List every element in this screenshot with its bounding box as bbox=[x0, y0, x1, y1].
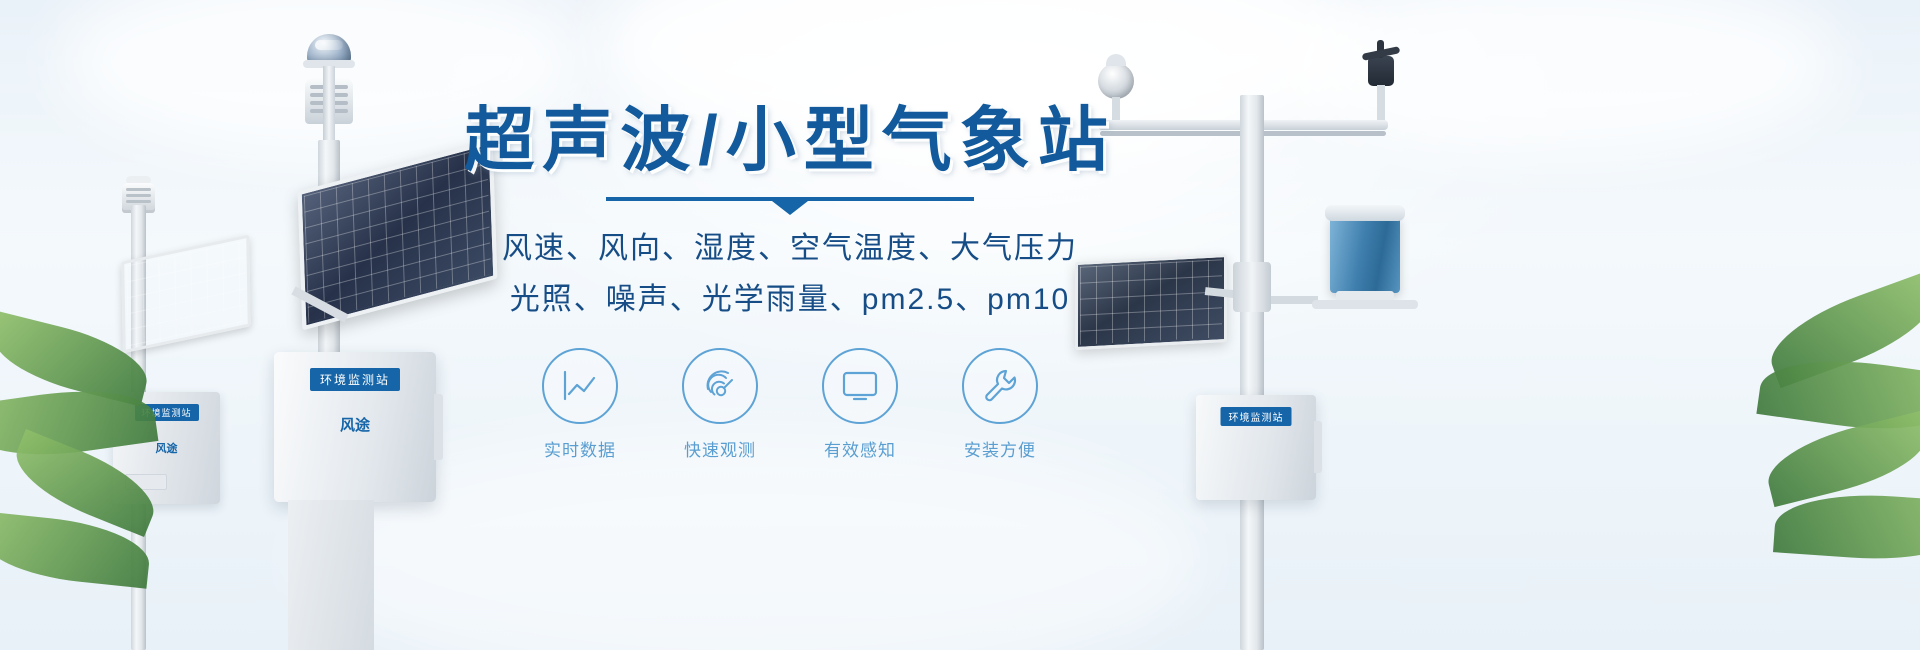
feature-label: 安装方便 bbox=[957, 436, 1043, 461]
feature-item-fast-observation[interactable]: 快速观测 bbox=[677, 348, 763, 461]
wrench-icon bbox=[962, 348, 1038, 424]
title-divider bbox=[606, 197, 974, 201]
radar-signal-icon bbox=[682, 348, 758, 424]
control-cabinet: 环境监测站 bbox=[1196, 395, 1316, 500]
feature-item-easy-installation[interactable]: 安装方便 bbox=[957, 348, 1043, 461]
cabinet-label: 环境监测站 bbox=[1221, 407, 1292, 426]
feature-list: 实时数据 快速观测 bbox=[440, 348, 1140, 461]
banner-title: 超声波/小型气象站 bbox=[440, 100, 1140, 181]
brand-logo: 风途 bbox=[156, 440, 178, 456]
station-base bbox=[288, 500, 374, 650]
pole-joint bbox=[1233, 262, 1271, 312]
feature-label: 有效感知 bbox=[817, 436, 903, 461]
brand-logo: 风途 bbox=[340, 414, 370, 435]
wind-sensor-icon bbox=[1368, 56, 1394, 86]
banner-subtitle: 风速、风向、湿度、空气温度、大气压力 光照、噪声、光学雨量、pm2.5、pm10 bbox=[440, 223, 1140, 326]
feature-item-realtime-data[interactable]: 实时数据 bbox=[537, 348, 623, 461]
feature-item-effective-sensing[interactable]: 有效感知 bbox=[817, 348, 903, 461]
station-pole bbox=[1240, 95, 1264, 650]
cabinet-label: 环境监测站 bbox=[310, 368, 400, 391]
monitor-icon bbox=[822, 348, 898, 424]
ultrasonic-sensor-icon bbox=[1098, 63, 1134, 99]
subtitle-line-1: 风速、风向、湿度、空气温度、大气压力 bbox=[440, 223, 1140, 275]
equipment-shelf bbox=[1312, 300, 1418, 309]
line-chart-icon bbox=[542, 348, 618, 424]
cabinet-door-edge bbox=[1314, 421, 1322, 473]
sensor-stem bbox=[1377, 85, 1385, 123]
feature-label: 实时数据 bbox=[537, 436, 623, 461]
rain-gauge-icon bbox=[1330, 215, 1400, 293]
control-cabinet: 环境监测站 风途 bbox=[274, 352, 436, 502]
product-banner: 环境监测站 风途 环境监测站 风途 bbox=[0, 0, 1920, 650]
feature-label: 快速观测 bbox=[677, 436, 763, 461]
subtitle-line-2: 光照、噪声、光学雨量、pm2.5、pm10 bbox=[440, 274, 1140, 326]
cloud-decoration bbox=[1280, 0, 1840, 160]
banner-content: 超声波/小型气象站 风速、风向、湿度、空气温度、大气压力 光照、噪声、光学雨量、… bbox=[440, 100, 1140, 461]
